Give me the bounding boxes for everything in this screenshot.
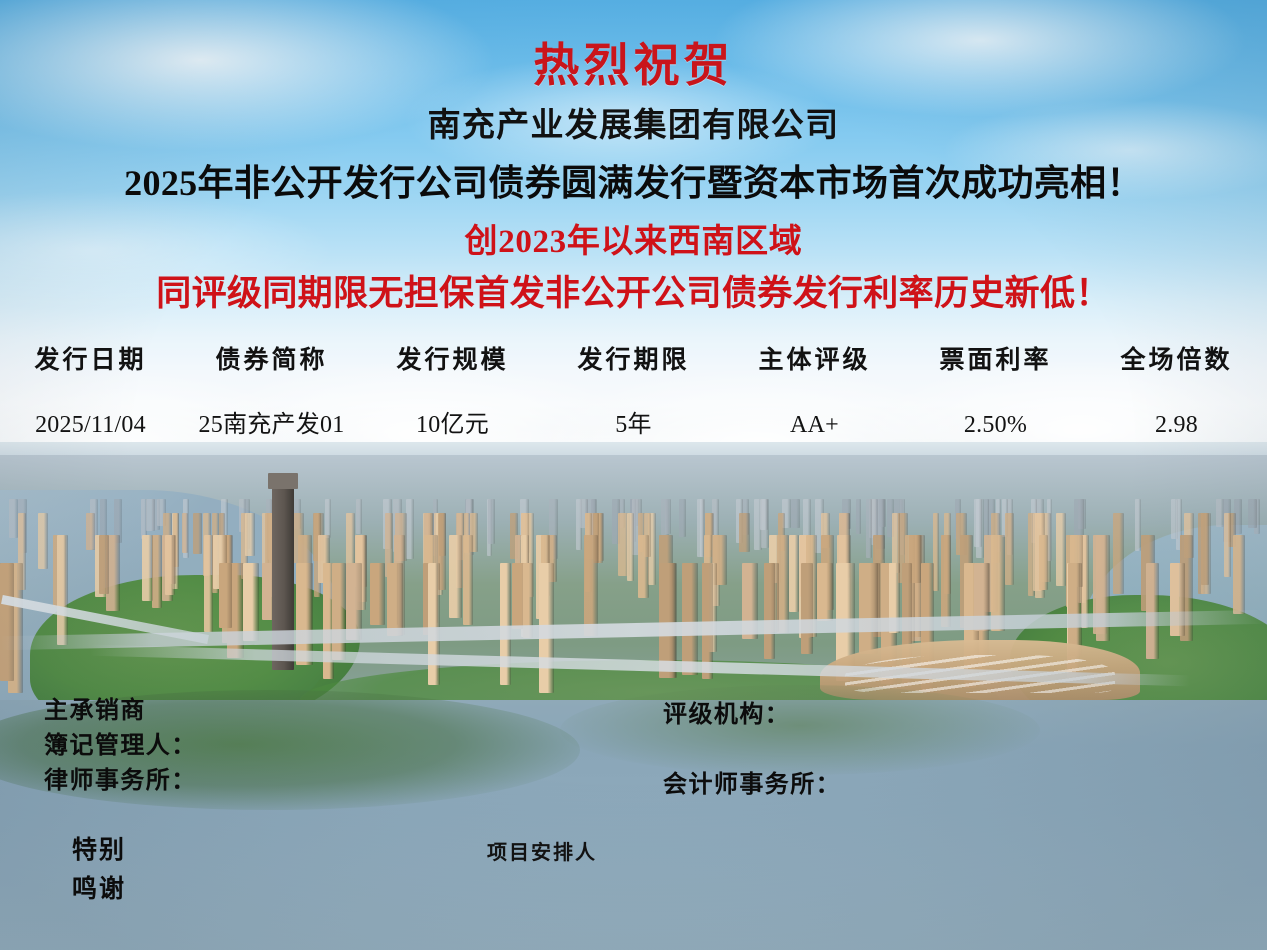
poster-content: 热烈祝贺 南充产业发展集团有限公司 2025年非公开发行公司债券圆满发行暨资本市…: [0, 0, 1267, 950]
facts-col-coupon: 票面利率 2.50%: [905, 345, 1086, 439]
facts-col-oversubscription: 全场倍数 2.98: [1086, 345, 1267, 439]
facts-header-oversubscription: 全场倍数: [1086, 345, 1267, 376]
facts-col-issue-date: 发行日期 2025/11/04: [0, 345, 181, 439]
facts-header-issue-date: 发行日期: [0, 345, 181, 376]
facts-col-term: 发行期限 5年: [543, 345, 724, 439]
special-thanks-line2: 鸣谢: [72, 871, 126, 910]
congratulations-title: 热烈祝贺: [0, 0, 1267, 91]
congratulation-poster: 热烈祝贺 南充产业发展集团有限公司 2025年非公开发行公司债券圆满发行暨资本市…: [0, 0, 1267, 950]
special-thanks-line1: 特别: [72, 832, 126, 871]
underwriter-label: 主承销商 簿记管理人：: [44, 694, 197, 764]
facts-value-issue-date: 2025/11/04: [0, 376, 181, 440]
facts-header-bond-name: 债券简称: [181, 345, 362, 376]
facts-header-rating: 主体评级: [724, 345, 905, 376]
facts-value-issue-size: 10亿元: [362, 376, 543, 440]
facts-value-coupon: 2.50%: [905, 376, 1086, 440]
underwriter-label-line2: 簿记管理人：: [44, 729, 197, 764]
rating-agency-label: 评级机构：: [663, 698, 790, 733]
facts-col-issue-size: 发行规模 10亿元: [362, 345, 543, 439]
facts-header-term: 发行期限: [543, 345, 724, 376]
special-thanks-label: 特别 鸣谢: [72, 832, 126, 910]
headline-block: 热烈祝贺 南充产业发展集团有限公司 2025年非公开发行公司债券圆满发行暨资本市…: [0, 0, 1267, 315]
company-name: 南充产业发展集团有限公司: [0, 91, 1267, 147]
facts-col-rating: 主体评级 AA+: [724, 345, 905, 439]
record-line-2: 同评级同期限无担保首发非公开公司债券发行利率历史新低！: [0, 263, 1267, 315]
facts-header-row: 发行日期 2025/11/04 债券简称 25南充产发01 发行规模 10亿元 …: [0, 345, 1267, 439]
facts-value-bond-name: 25南充产发01: [181, 376, 362, 440]
lawfirm-label: 律师事务所：: [44, 764, 197, 799]
partners-section: 主承销商 簿记管理人： 律师事务所： 评级机构： 会计师事务所： 粤开证券股份有…: [0, 690, 1267, 825]
facts-value-term: 5年: [543, 376, 724, 440]
facts-header-issue-size: 发行规模: [362, 345, 543, 376]
facts-value-rating: AA+: [724, 376, 905, 440]
bond-facts-table: 发行日期 2025/11/04 债券简称 25南充产发01 发行规模 10亿元 …: [0, 345, 1267, 439]
accountant-label: 会计师事务所：: [663, 768, 841, 803]
project-arranger-label: 项目安排人: [487, 836, 597, 865]
record-line-1: 创2023年以来西南区域: [0, 205, 1267, 263]
main-announcement-line: 2025年非公开发行公司债券圆满发行暨资本市场首次成功亮相！: [0, 146, 1267, 205]
underwriter-label-line1: 主承销商: [44, 694, 197, 729]
special-thanks-section: 特别 鸣谢 项目安排人 深圳证券交易所 SHENZHEN STOCK EXCHA…: [0, 826, 1267, 950]
facts-col-bond-name: 债券简称 25南充产发01: [181, 345, 362, 439]
facts-value-oversubscription: 2.98: [1086, 376, 1267, 440]
facts-header-coupon: 票面利率: [905, 345, 1086, 376]
